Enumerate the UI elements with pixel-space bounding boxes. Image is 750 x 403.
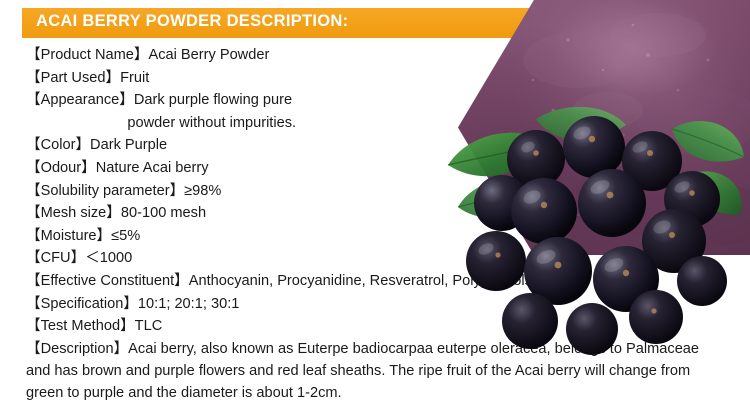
product-description-card: ACAI BERRY POWDER DESCRIPTION: bbox=[0, 0, 750, 403]
acai-berry-cluster-photo bbox=[440, 95, 750, 355]
page-title: ACAI BERRY POWDER DESCRIPTION: bbox=[36, 12, 348, 31]
